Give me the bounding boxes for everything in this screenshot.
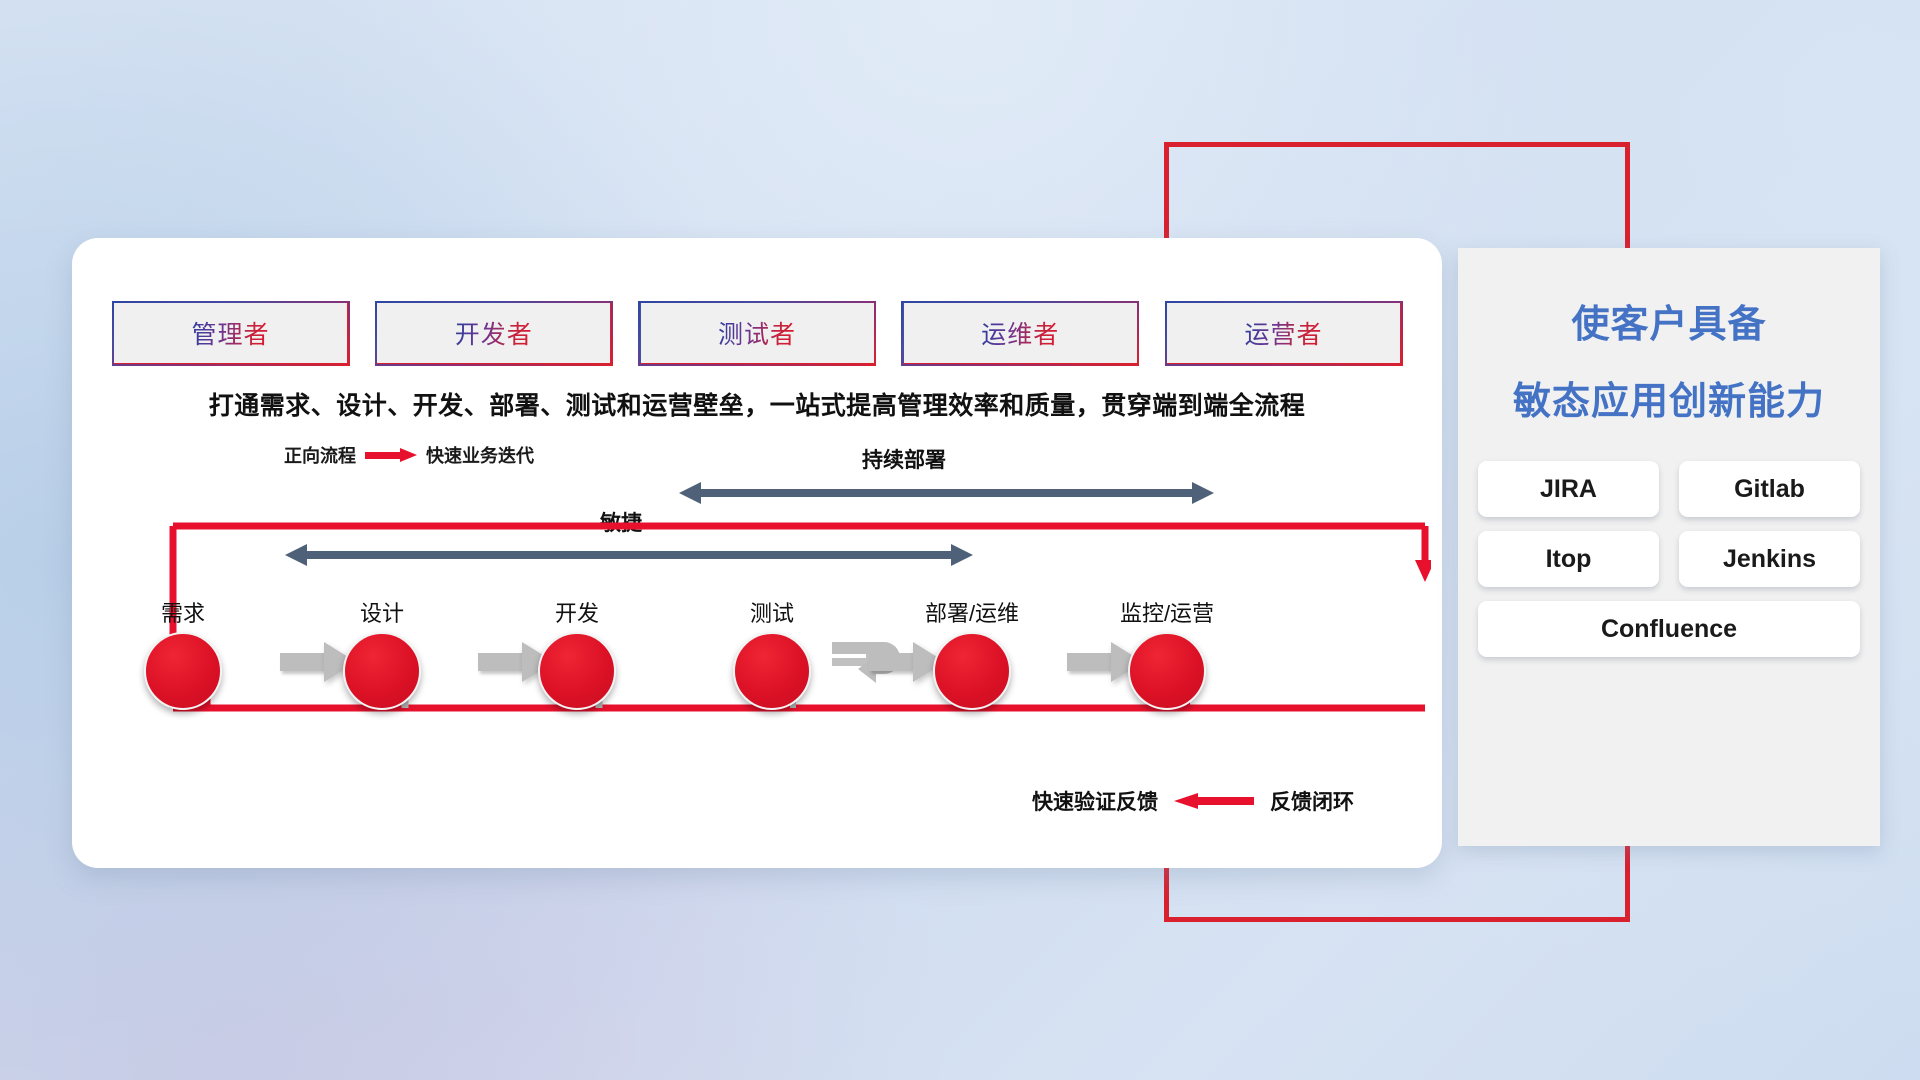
role-chip-row: 管理者 开发者 测试者 运维者 运营者 [112, 300, 1402, 366]
pipeline-node-development[interactable]: 开发 [512, 596, 642, 710]
role-chip-operations[interactable]: 运营者 [1165, 301, 1402, 365]
card-headline: 打通需求、设计、开发、部署、测试和运营壁垒，一站式提高管理效率和质量，贯穿端到端… [112, 386, 1402, 422]
role-chip-label: 运维者 [981, 315, 1059, 351]
arrow-left-red-icon [1174, 793, 1254, 809]
role-chip-label: 管理者 [191, 315, 269, 351]
pipeline-node-label: 测试 [707, 596, 837, 628]
pipeline-node-label: 设计 [317, 596, 447, 628]
pipeline-node-deploy-ops[interactable]: 部署/运维 [907, 596, 1037, 710]
pipeline-node-requirements[interactable]: 需求 [118, 596, 248, 710]
tool-chip-gitlab[interactable]: Gitlab [1679, 461, 1860, 517]
pipeline-node-testing[interactable]: 测试 [707, 596, 837, 710]
forward-flow-annotation: 正向流程 快速业务迭代 [284, 442, 534, 468]
pipeline-node-label: 需求 [118, 596, 248, 628]
role-chip-developer[interactable]: 开发者 [375, 301, 612, 365]
pipeline-node-dot [933, 632, 1011, 710]
pipeline-row: 需求 设计 开发 [112, 596, 1402, 726]
double-arrow-agile-icon [285, 544, 973, 566]
double-arrow-continuous-deployment-icon [679, 482, 1214, 504]
tool-chip-confluence[interactable]: Confluence [1478, 601, 1860, 657]
role-chip-label: 测试者 [718, 315, 796, 351]
pipeline-node-dot [1128, 632, 1206, 710]
feedback-annotation: 快速验证反馈 反馈闭环 [1032, 786, 1354, 816]
role-chip-label: 开发者 [455, 315, 533, 351]
pipeline-node-label: 部署/运维 [907, 596, 1037, 628]
pipeline-node-dot [343, 632, 421, 710]
tool-chip-jenkins[interactable]: Jenkins [1679, 531, 1860, 587]
band-label-agile: 敏捷 [600, 507, 642, 537]
forward-flow-left-label: 正向流程 [284, 442, 356, 468]
pipeline-node-monitor-operations[interactable]: 监控/运营 [1102, 596, 1232, 710]
pipeline-node-dot [144, 632, 222, 710]
tool-chip-jira[interactable]: JIRA [1478, 461, 1659, 517]
role-chip-ops[interactable]: 运维者 [902, 301, 1139, 365]
slide-canvas: 管理者 开发者 测试者 运维者 运营者 打通需求、设计、开发、部署、测试和运营壁… [0, 0, 1920, 1080]
forward-flow-right-label: 快速业务迭代 [426, 442, 534, 468]
tool-chip-grid: JIRA Gitlab Itop Jenkins Confluence [1458, 461, 1880, 657]
tool-chip-itop[interactable]: Itop [1478, 531, 1659, 587]
pipeline-node-design[interactable]: 设计 [317, 596, 447, 710]
pipeline-node-label: 开发 [512, 596, 642, 628]
pipeline-node-label: 监控/运营 [1102, 596, 1232, 628]
panel-title-line2: 敏态应用创新能力 [1458, 370, 1880, 425]
pipeline-node-dot [733, 632, 811, 710]
role-chip-tester[interactable]: 测试者 [639, 301, 876, 365]
panel-title: 使客户具备 敏态应用创新能力 [1458, 293, 1880, 425]
feedback-right-label: 反馈闭环 [1270, 786, 1354, 816]
role-chip-manager[interactable]: 管理者 [112, 301, 349, 365]
feedback-left-label: 快速验证反馈 [1032, 786, 1158, 816]
arrow-right-red-icon [365, 448, 417, 462]
panel-title-line1: 使客户具备 [1458, 293, 1880, 348]
band-label-continuous-deployment: 持续部署 [862, 444, 946, 474]
pipeline-node-dot [538, 632, 616, 710]
value-proposition-panel: 使客户具备 敏态应用创新能力 JIRA Gitlab Itop Jenkins … [1458, 248, 1880, 846]
role-chip-label: 运营者 [1244, 315, 1322, 351]
devops-overview-card: 管理者 开发者 测试者 运维者 运营者 打通需求、设计、开发、部署、测试和运营壁… [72, 238, 1442, 868]
